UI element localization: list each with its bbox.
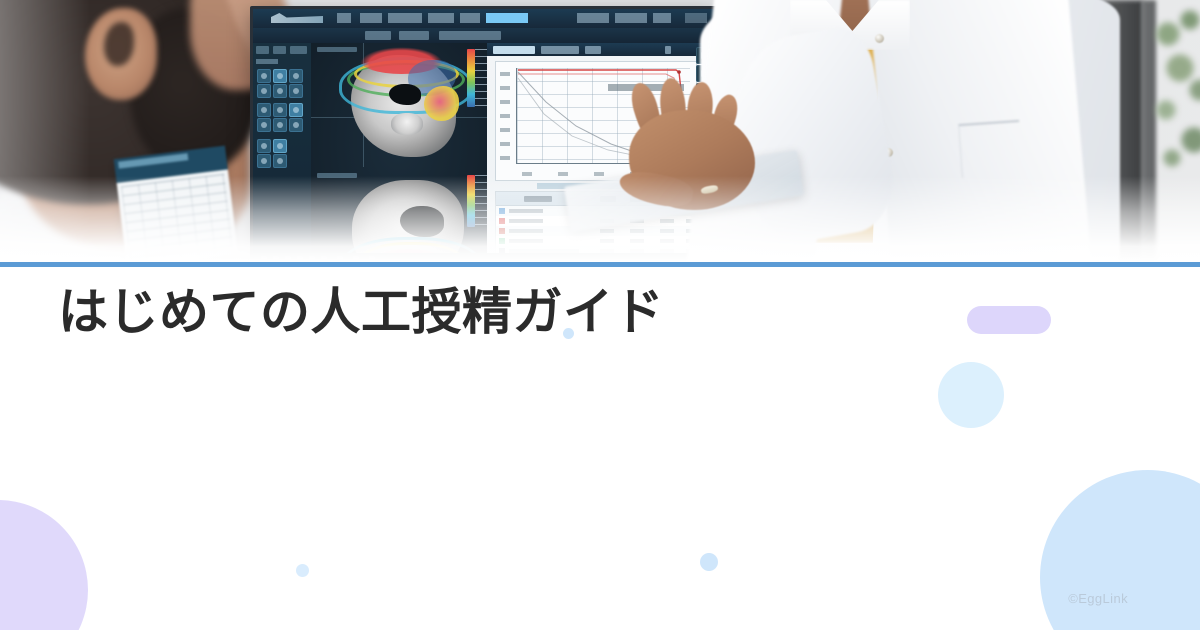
os-taskbar [253, 253, 715, 262]
layout-button-7 [257, 103, 271, 117]
tab-dvh-properties [493, 46, 535, 54]
dvh-y-tick-1 [500, 72, 510, 76]
axial-airway [389, 84, 421, 105]
tab-selected-dvh [541, 46, 579, 54]
hero-photo-banner [0, 0, 1200, 262]
dose-value-cell [660, 219, 674, 223]
structure-name [509, 209, 543, 213]
axial-ct-slice [325, 45, 485, 167]
tab-ptv [585, 46, 601, 54]
software-tool-sidebar [253, 43, 312, 262]
sagittal-dose-colorbar [467, 175, 475, 227]
sidebar-tab-vois [273, 46, 286, 54]
dose-value-cell [600, 239, 614, 243]
layout-button-14 [273, 139, 287, 153]
deco-dot-right [700, 553, 718, 571]
dose-value-cell [660, 239, 674, 243]
sidebar-tab-tools [256, 46, 269, 54]
lab-coat-pocket [958, 120, 1023, 178]
site-watermark: ©EggLink [1068, 591, 1128, 606]
axial-ct-image [325, 45, 485, 167]
layout-button-9 [289, 103, 303, 117]
structure-color-swatch [499, 238, 505, 244]
evaluation-panel-close [665, 46, 671, 54]
dvh-y-tick-2 [500, 86, 510, 90]
structure-name [509, 219, 543, 223]
axial-dose-colorbar-ticks [475, 49, 487, 107]
og-image-canvas: はじめての人工授精ガイド ©EggLink [0, 0, 1200, 630]
secondary-panel-table-grid [121, 174, 234, 262]
tab-multicrit [399, 31, 429, 40]
axial-vertebra [391, 113, 423, 135]
layout-button-8 [273, 103, 287, 117]
dvh-y-tick-6 [500, 142, 510, 146]
clinical-consultation-photo [0, 0, 1200, 262]
deco-circle-lightblue-lg [1040, 470, 1200, 630]
layout-button-3 [289, 69, 303, 83]
deco-dot-left [296, 564, 309, 577]
menu-item-setup [428, 13, 454, 23]
structure-color-swatch [499, 208, 505, 214]
dose-table-row [496, 226, 708, 236]
structure-name [509, 229, 543, 233]
menu-item-settings [615, 13, 647, 23]
plant-foliage [1150, 0, 1200, 190]
axial-dose-colorbar [467, 49, 475, 107]
layout-button-1 [257, 69, 271, 83]
dvh-y-tick-5 [500, 128, 510, 132]
menu-item-evaluate [486, 13, 528, 23]
dose-table-col-name [524, 196, 552, 202]
patient-id-field [685, 13, 707, 23]
menu-item-3d [337, 13, 351, 23]
dvh-x-tick-2 [558, 172, 568, 176]
structure-name [509, 239, 543, 243]
accuray-logo [271, 13, 323, 23]
page-title: はじめての人工授精ガイド [58, 283, 1058, 341]
layout-button-15 [257, 154, 271, 168]
axial-target-volume [424, 86, 459, 120]
menu-item-help [653, 13, 671, 23]
dvh-y-tick-4 [500, 114, 510, 118]
tab-compare-sum-plans [439, 31, 501, 40]
sidebar-section-label [256, 59, 278, 64]
lab-coat-button-top [875, 34, 884, 43]
sidebar-tab-display [290, 46, 307, 54]
layout-button-2 [273, 69, 287, 83]
evaluation-tabbar [487, 43, 715, 56]
menu-item-fuse [360, 13, 382, 23]
layout-button-11 [273, 118, 287, 132]
menu-item-plan [460, 13, 480, 23]
deco-circle-lavender-lg [0, 500, 88, 630]
dvh-x-tick-1 [522, 172, 532, 176]
layout-button-10 [257, 118, 271, 132]
menu-item-utilities [577, 13, 609, 23]
dvh-y-tick-3 [500, 100, 510, 104]
dose-value-cell [600, 229, 614, 233]
dvh-y-tick-7 [500, 156, 510, 160]
deco-circle-lightblue-sm [938, 362, 1004, 428]
structure-color-swatch [499, 228, 505, 234]
layout-button-13 [257, 139, 271, 153]
layout-button-5 [273, 84, 287, 98]
dose-value-cell [630, 229, 644, 233]
clinician-gesturing-hand [583, 82, 761, 214]
software-tabbar [253, 28, 715, 43]
software-menubar [253, 9, 715, 29]
tab-review [365, 31, 391, 40]
layout-button-12 [289, 118, 303, 132]
layout-button-4 [257, 84, 271, 98]
menu-item-contour [388, 13, 422, 23]
structure-color-swatch [499, 218, 505, 224]
dose-table-row [496, 236, 708, 246]
ct-viewport-area [311, 43, 487, 262]
layout-button-6 [289, 84, 303, 98]
layout-button-16 [273, 154, 287, 168]
secondary-data-panel [114, 146, 239, 262]
sagittal-dose-colorbar-ticks [475, 175, 487, 227]
dose-value-cell [660, 229, 674, 233]
dose-value-cell [630, 239, 644, 243]
